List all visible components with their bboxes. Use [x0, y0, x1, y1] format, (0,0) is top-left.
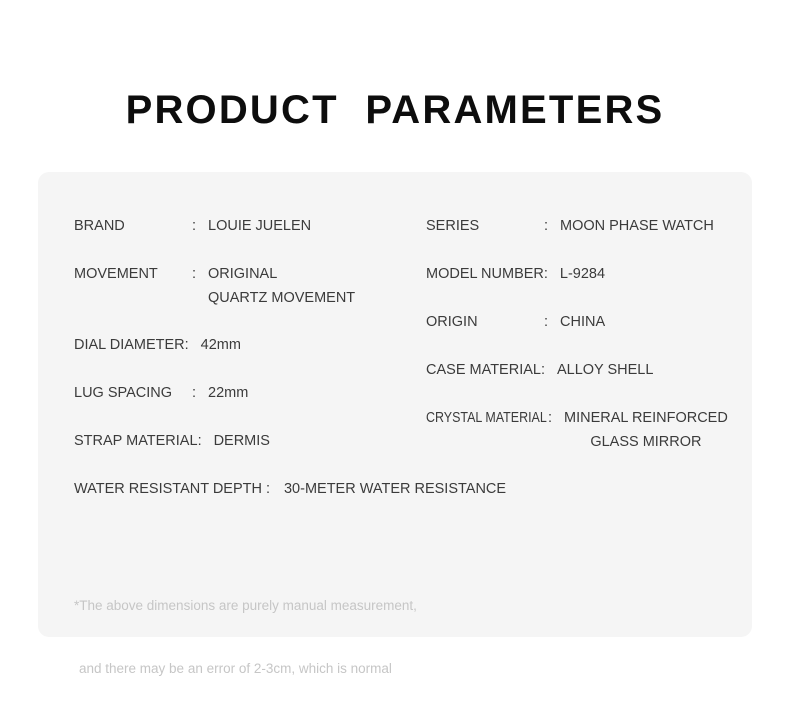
- spec-row-series: SERIES:MOON PHASE WATCH: [426, 218, 714, 234]
- spec-colon-strap-material: :: [198, 433, 212, 449]
- spec-label-case-material: CASE MATERIAL: [426, 362, 541, 378]
- spec-label-brand: BRAND: [74, 218, 192, 234]
- spec-value-series: MOON PHASE WATCH: [560, 218, 714, 234]
- spec-row-model-number: MODEL NUMBER:L-9284: [426, 266, 605, 282]
- spec-colon-origin: :: [544, 314, 560, 330]
- spec-label-series: SERIES: [426, 218, 544, 234]
- measurement-disclaimer-line2: and there may be an error of 2-3cm, whic…: [74, 658, 417, 679]
- spec-label-movement: MOVEMENT: [74, 266, 192, 282]
- product-parameters-page: PRODUCT PARAMETERS BRAND:LOUIE JUELEN MO…: [0, 0, 790, 718]
- spec-colon-movement: :: [192, 266, 208, 282]
- spec-value-case-material: ALLOY SHELL: [555, 362, 653, 378]
- specifications-panel: BRAND:LOUIE JUELEN MOVEMENT:ORIGINALQUAR…: [38, 172, 752, 637]
- spec-value-movement: ORIGINALQUARTZ MOVEMENT: [208, 266, 355, 306]
- spec-label-water-resistant-depth: WATER RESISTANT DEPTH: [74, 481, 262, 497]
- measurement-disclaimer: *The above dimensions are purely manual …: [74, 553, 417, 721]
- spec-label-crystal-material: CRYSTAL MATERIAL: [426, 410, 531, 426]
- spec-row-strap-material: STRAP MATERIAL:DERMIS: [74, 433, 270, 449]
- spec-colon-model-number: :: [544, 266, 558, 282]
- spec-label-origin: ORIGIN: [426, 314, 544, 330]
- spec-value-origin: CHINA: [560, 314, 605, 330]
- spec-colon-brand: :: [192, 218, 208, 234]
- spec-value-strap-material: DERMIS: [212, 433, 270, 449]
- spec-colon-series: :: [544, 218, 560, 234]
- spec-label-lug-spacing: LUG SPACING: [74, 385, 192, 401]
- spec-value-brand: LOUIE JUELEN: [208, 218, 311, 234]
- page-title: PRODUCT PARAMETERS: [0, 88, 790, 133]
- spec-row-origin: ORIGIN:CHINA: [426, 314, 605, 330]
- spec-row-lug-spacing: LUG SPACING:22mm: [74, 385, 248, 401]
- measurement-disclaimer-line1: *The above dimensions are purely manual …: [74, 595, 417, 616]
- spec-row-dial-diameter: DIAL DIAMETER:42mm: [74, 337, 241, 353]
- spec-label-model-number: MODEL NUMBER: [426, 266, 544, 282]
- spec-colon-case-material: :: [541, 362, 555, 378]
- spec-value-dial-diameter: 42mm: [199, 337, 241, 353]
- spec-value-movement-line2: QUARTZ MOVEMENT: [208, 290, 355, 306]
- spec-row-crystal-material: CRYSTAL MATERIAL:MINERAL REINFORCEDGLASS…: [426, 410, 728, 450]
- spec-value-movement-line1: ORIGINAL: [208, 266, 277, 282]
- spec-value-lug-spacing: 22mm: [208, 385, 248, 401]
- spec-label-dial-diameter: DIAL DIAMETER: [74, 337, 185, 353]
- spec-row-movement: MOVEMENT:ORIGINALQUARTZ MOVEMENT: [74, 266, 355, 306]
- spec-colon-lug-spacing: :: [192, 385, 208, 401]
- spec-row-brand: BRAND:LOUIE JUELEN: [74, 218, 311, 234]
- spec-value-crystal-material-line2: GLASS MIRROR: [564, 434, 728, 450]
- spec-colon-water-resistant-depth: :: [262, 481, 282, 497]
- spec-value-model-number: L-9284: [558, 266, 605, 282]
- spec-value-crystal-material-line1: MINERAL REINFORCED: [564, 410, 728, 426]
- spec-value-water-resistant-depth: 30-METER WATER RESISTANCE: [282, 481, 506, 497]
- spec-row-case-material: CASE MATERIAL:ALLOY SHELL: [426, 362, 653, 378]
- spec-value-crystal-material: MINERAL REINFORCEDGLASS MIRROR: [562, 410, 728, 450]
- spec-row-water-resistant-depth: WATER RESISTANT DEPTH:30-METER WATER RES…: [74, 481, 506, 497]
- spec-label-strap-material: STRAP MATERIAL: [74, 433, 198, 449]
- spec-colon-dial-diameter: :: [185, 337, 199, 353]
- spec-colon-crystal-material: :: [548, 410, 562, 426]
